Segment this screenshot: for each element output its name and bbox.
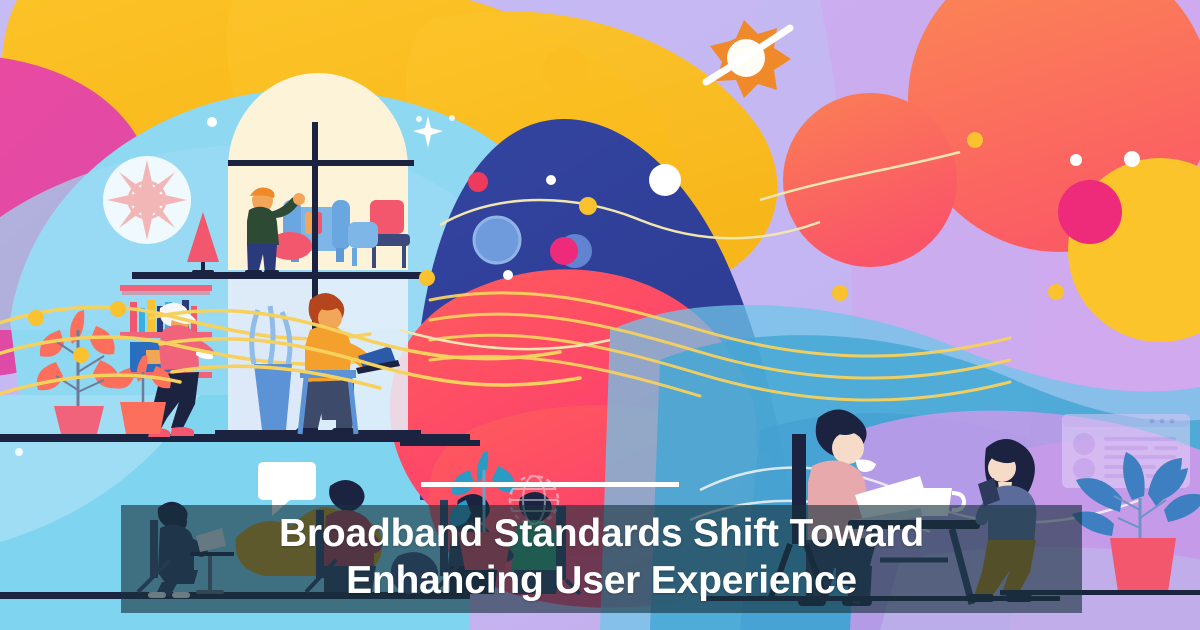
- hero-banner: Broadband Standards Shift Toward Enhanci…: [0, 0, 1200, 630]
- white-dot-sky: [207, 117, 217, 127]
- white-circle-small: [649, 164, 681, 196]
- node-dot-yellow: [579, 197, 597, 215]
- yellow-circle-small: [543, 47, 589, 93]
- node-dot-red: [468, 172, 488, 192]
- coral-circle-right: [783, 93, 957, 267]
- floor-slab-upper: [132, 272, 432, 279]
- title-overlay-band: [121, 505, 1082, 613]
- floor-slab-middle: [0, 434, 470, 442]
- compass-rose-icon: [103, 156, 191, 244]
- pink-circle-right: [1058, 180, 1122, 244]
- title-divider: [421, 482, 679, 487]
- window-mullion-horizontal: [228, 160, 414, 166]
- avatar: [1073, 433, 1095, 455]
- avatar: [1073, 458, 1095, 480]
